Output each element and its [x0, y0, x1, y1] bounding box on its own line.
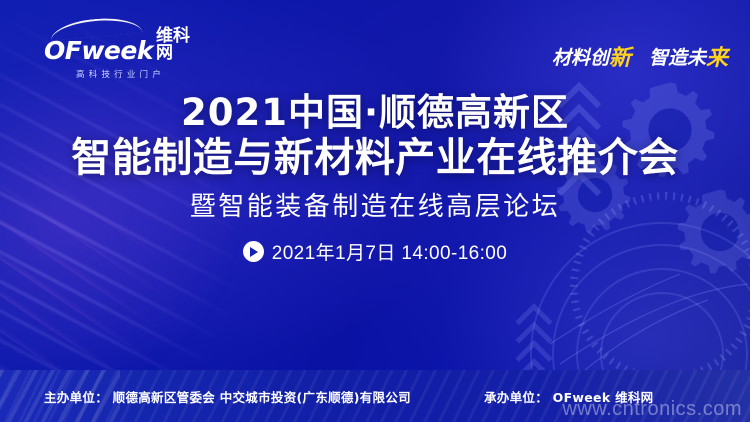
slogan-part2-highlight: 来 — [706, 40, 728, 72]
event-title-line1: 2021中国·顺德高新区 — [0, 92, 750, 133]
event-subtitle: 暨智能装备制造在线高层论坛 — [0, 191, 750, 222]
site-watermark: www.cntronics.com — [562, 398, 742, 421]
logo-tagline: 高科技行业门户 — [44, 68, 194, 80]
event-title-line2: 智能制造与新材料产业在线推介会 — [0, 136, 750, 181]
event-datetime: 2021年1月7日 14:00-16:00 — [243, 238, 508, 265]
event-poster: OFweek 维科网 高科技行业门户 材料创 新 智造未 来 2021中国·顺德… — [0, 0, 750, 422]
slogan-part2-white: 智造未 — [649, 43, 706, 70]
organizer-text: 主办单位： 顺德高新区管委会 中交城市投资(广东顺德)有限公司 — [44, 387, 411, 406]
header-slogan: 材料创 新 智造未 来 — [552, 40, 728, 72]
play-circle-icon[interactable] — [243, 241, 264, 262]
ofweek-logo[interactable]: OFweek 维科网 高科技行业门户 — [44, 28, 194, 80]
title-block: 2021中国·顺德高新区 智能制造与新材料产业在线推介会 暨智能装备制造在线高层… — [0, 92, 750, 265]
logo-wordmark: OFweek — [44, 38, 153, 63]
slogan-part1-white: 材料创 — [552, 43, 609, 70]
logo-chinese-name: 维科网 — [156, 28, 194, 63]
event-datetime-text: 2021年1月7日 14:00-16:00 — [272, 238, 508, 265]
slogan-part1-highlight: 新 — [609, 40, 631, 72]
